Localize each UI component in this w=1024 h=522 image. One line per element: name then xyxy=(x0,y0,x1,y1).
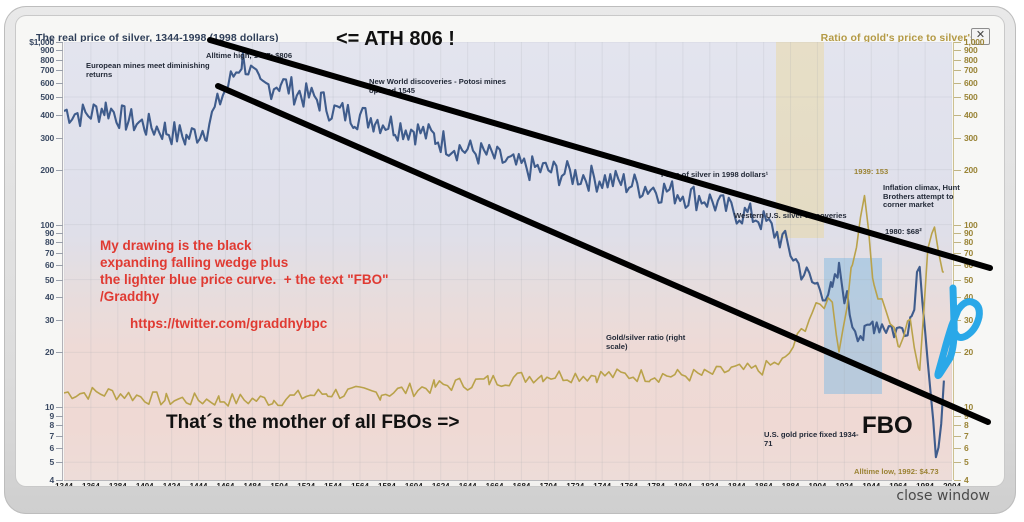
y2-tick xyxy=(954,352,961,353)
y2-tick xyxy=(954,97,961,98)
y-tick-label: 60 xyxy=(20,260,54,270)
y-tick xyxy=(56,265,63,266)
y-tick-label: 50 xyxy=(20,275,54,285)
x-tick-label: 1404 xyxy=(130,482,160,486)
x-tick-label: 1484 xyxy=(237,482,267,486)
y2-tick-label: 800 xyxy=(964,55,998,65)
y2-tick xyxy=(954,83,961,84)
x-tick-label: 1924 xyxy=(829,482,859,486)
y-tick xyxy=(56,97,63,98)
annotation-us-gold-fixed: U.S. gold price fixed 1934-71 xyxy=(764,431,864,448)
y2-tick-label: 7 xyxy=(964,431,998,441)
y2-tick xyxy=(954,280,961,281)
y-tick xyxy=(56,83,63,84)
x-tick-label: 1724 xyxy=(560,482,590,486)
mother-of-fbos-text: That´s the mother of all FBOs => xyxy=(166,412,460,434)
y2-tick xyxy=(954,233,961,234)
y2-tick-label: 80 xyxy=(964,237,998,247)
y2-tick xyxy=(954,462,961,463)
y2-tick xyxy=(954,416,961,417)
y-tick-label: 800 xyxy=(20,55,54,65)
y2-tick xyxy=(954,170,961,171)
right-axis-line xyxy=(953,42,954,480)
y-tick xyxy=(56,60,63,61)
screenshot-root: The real price of silver, 1344-1998 (199… xyxy=(0,0,1024,522)
y2-tick-label: 30 xyxy=(964,315,998,325)
annotation-price-of-silver: Price of silver in 1998 dollars¹ xyxy=(661,171,771,180)
y2-tick-label: 300 xyxy=(964,133,998,143)
y-tick xyxy=(56,233,63,234)
red-annotation-note: My drawing is the black expanding fallin… xyxy=(100,238,389,306)
y2-tick-label: 6 xyxy=(964,443,998,453)
x-tick-label: 1384 xyxy=(103,482,133,486)
annotation-alltime-low: Alltime low, 1992: $4.73 xyxy=(854,468,939,477)
gold-highlight-band xyxy=(776,42,824,238)
y2-tick-label: 20 xyxy=(964,347,998,357)
y-tick xyxy=(56,50,63,51)
y-tick xyxy=(56,280,63,281)
annotation-inflation-climax: Inflation climax, Hunt Brothers attempt … xyxy=(883,184,961,210)
y2-tick-label: 200 xyxy=(964,165,998,175)
x-tick-label: 1364 xyxy=(76,482,106,486)
y2-tick-label: 400 xyxy=(964,110,998,120)
x-tick-label: 1624 xyxy=(426,482,456,486)
y2-tick-label: 700 xyxy=(964,65,998,75)
y-tick-label: 200 xyxy=(20,165,54,175)
y-tick xyxy=(56,462,63,463)
x-tick-label: 2004 xyxy=(937,482,967,486)
x-tick-label: 1604 xyxy=(399,482,429,486)
x-tick-label: 1944 xyxy=(856,482,886,486)
y-tick xyxy=(56,436,63,437)
y-tick-label: 20 xyxy=(20,347,54,357)
y2-tick-label: 70 xyxy=(964,248,998,258)
x-tick-label: 1684 xyxy=(506,482,536,486)
y2-tick xyxy=(954,425,961,426)
annotation-european-mines: European mines meet diminishing returns xyxy=(86,62,216,79)
y-tick-label: 80 xyxy=(20,237,54,247)
y2-tick xyxy=(954,320,961,321)
y2-tick xyxy=(954,297,961,298)
x-tick-label: 1504 xyxy=(264,482,294,486)
y2-tick xyxy=(954,242,961,243)
annotation-new-world: New World discoveries - Potosi mines ope… xyxy=(369,78,529,95)
x-tick-label: 1784 xyxy=(641,482,671,486)
y2-tick-label: 8 xyxy=(964,420,998,430)
red-annotation-url: https://twitter.com/graddhybpc xyxy=(130,316,327,331)
y-tick xyxy=(56,480,63,481)
left-axis-line xyxy=(62,42,63,480)
y-tick-label: 700 xyxy=(20,65,54,75)
x-tick-label: 1424 xyxy=(157,482,187,486)
y-tick xyxy=(56,448,63,449)
y2-tick-label: 50 xyxy=(964,275,998,285)
y2-tick-label: 4 xyxy=(964,475,998,485)
annotation-peak-1980: 1980: $68² xyxy=(885,228,922,237)
x-tick-label: 1904 xyxy=(802,482,832,486)
annotation-gold-silver-ratio: Gold/silver ratio (right scale) xyxy=(606,334,706,351)
y-tick xyxy=(56,242,63,243)
x-tick-label: 1824 xyxy=(695,482,725,486)
y2-tick xyxy=(954,480,961,481)
y2-tick xyxy=(954,407,961,408)
x-tick-label: 1564 xyxy=(345,482,375,486)
y-tick-label: 6 xyxy=(20,443,54,453)
y-tick-label: 400 xyxy=(20,110,54,120)
y2-tick xyxy=(954,253,961,254)
x-tick-label: 1864 xyxy=(749,482,779,486)
y-tick xyxy=(56,407,63,408)
y-tick xyxy=(56,70,63,71)
y-tick-label: 40 xyxy=(20,292,54,302)
y-tick-label: 600 xyxy=(20,78,54,88)
y-tick xyxy=(56,352,63,353)
x-tick-label: 1884 xyxy=(776,482,806,486)
y-tick-label: 5 xyxy=(20,457,54,467)
y2-tick-label: 500 xyxy=(964,92,998,102)
y2-tick xyxy=(954,225,961,226)
y2-tick xyxy=(954,115,961,116)
y-tick xyxy=(56,320,63,321)
x-tick-label: 1844 xyxy=(722,482,752,486)
y-tick-label: 70 xyxy=(20,248,54,258)
x-tick-label: 1464 xyxy=(210,482,240,486)
y2-tick xyxy=(954,42,961,43)
y2-tick xyxy=(954,265,961,266)
x-tick-label: 1984 xyxy=(910,482,940,486)
y-tick-label: 7 xyxy=(20,431,54,441)
x-tick-label: 1704 xyxy=(533,482,563,486)
y-tick xyxy=(56,170,63,171)
x-tick-label: 1344 xyxy=(49,482,79,486)
annotation-western-us: Western U.S. silver discoveries xyxy=(734,212,847,221)
y-tick xyxy=(56,297,63,298)
y2-tick xyxy=(954,436,961,437)
y-tick-label: 8 xyxy=(20,420,54,430)
x-tick-label: 1964 xyxy=(883,482,913,486)
annotation-alltime-high: Alltime high, 1477: $806 xyxy=(206,52,292,61)
x-tick-label: 1644 xyxy=(453,482,483,486)
y2-tick xyxy=(954,448,961,449)
y-tick xyxy=(56,42,63,43)
fbo-highlight-band xyxy=(824,258,882,394)
y-tick-label: 500 xyxy=(20,92,54,102)
x-tick-label: 1764 xyxy=(614,482,644,486)
y-tick-label: 30 xyxy=(20,315,54,325)
y2-tick xyxy=(954,50,961,51)
annotation-ratio-1939: 1939: 153 xyxy=(854,168,888,177)
x-tick-label: 1584 xyxy=(372,482,402,486)
x-tick-label: 1444 xyxy=(184,482,214,486)
y2-tick-label: 40 xyxy=(964,292,998,302)
x-tick-label: 1544 xyxy=(318,482,348,486)
y-tick xyxy=(56,138,63,139)
x-tick-label: 1744 xyxy=(587,482,617,486)
y2-tick xyxy=(954,138,961,139)
y-tick-label: 300 xyxy=(20,133,54,143)
y2-tick xyxy=(954,70,961,71)
y2-tick-label: 5 xyxy=(964,457,998,467)
x-tick-label: 1524 xyxy=(291,482,321,486)
x-tick-label: 1804 xyxy=(668,482,698,486)
y-tick xyxy=(56,115,63,116)
y-tick xyxy=(56,425,63,426)
close-window-link[interactable]: close window xyxy=(896,488,990,504)
fbo-label: FBO xyxy=(862,412,913,440)
y-tick xyxy=(56,253,63,254)
ath-callout: <= ATH 806 ! xyxy=(336,28,455,51)
y-tick xyxy=(56,225,63,226)
y2-tick xyxy=(954,60,961,61)
y2-tick-label: 60 xyxy=(964,260,998,270)
y-tick xyxy=(56,416,63,417)
y2-tick-label: 600 xyxy=(964,78,998,88)
x-tick-label: 1664 xyxy=(480,482,510,486)
